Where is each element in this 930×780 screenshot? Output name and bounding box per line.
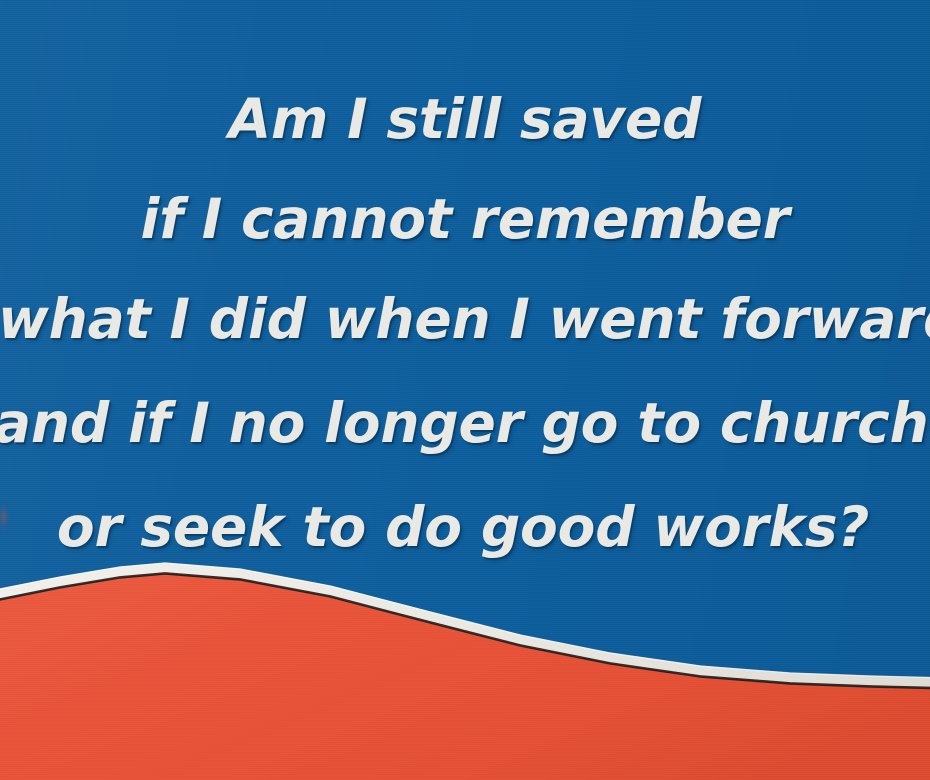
- image-canvas: Am I still saved if I cannot remember wh…: [0, 0, 930, 780]
- quote-line-1: Am I still saved: [0, 92, 930, 147]
- quote-line-3: what I did when I went forward: [0, 292, 928, 347]
- quote-line-5: or seek to do good works?: [0, 500, 928, 555]
- quote-line-2: if I cannot remember: [0, 192, 930, 247]
- quote-line-4: and if I no longer go to church: [0, 396, 924, 451]
